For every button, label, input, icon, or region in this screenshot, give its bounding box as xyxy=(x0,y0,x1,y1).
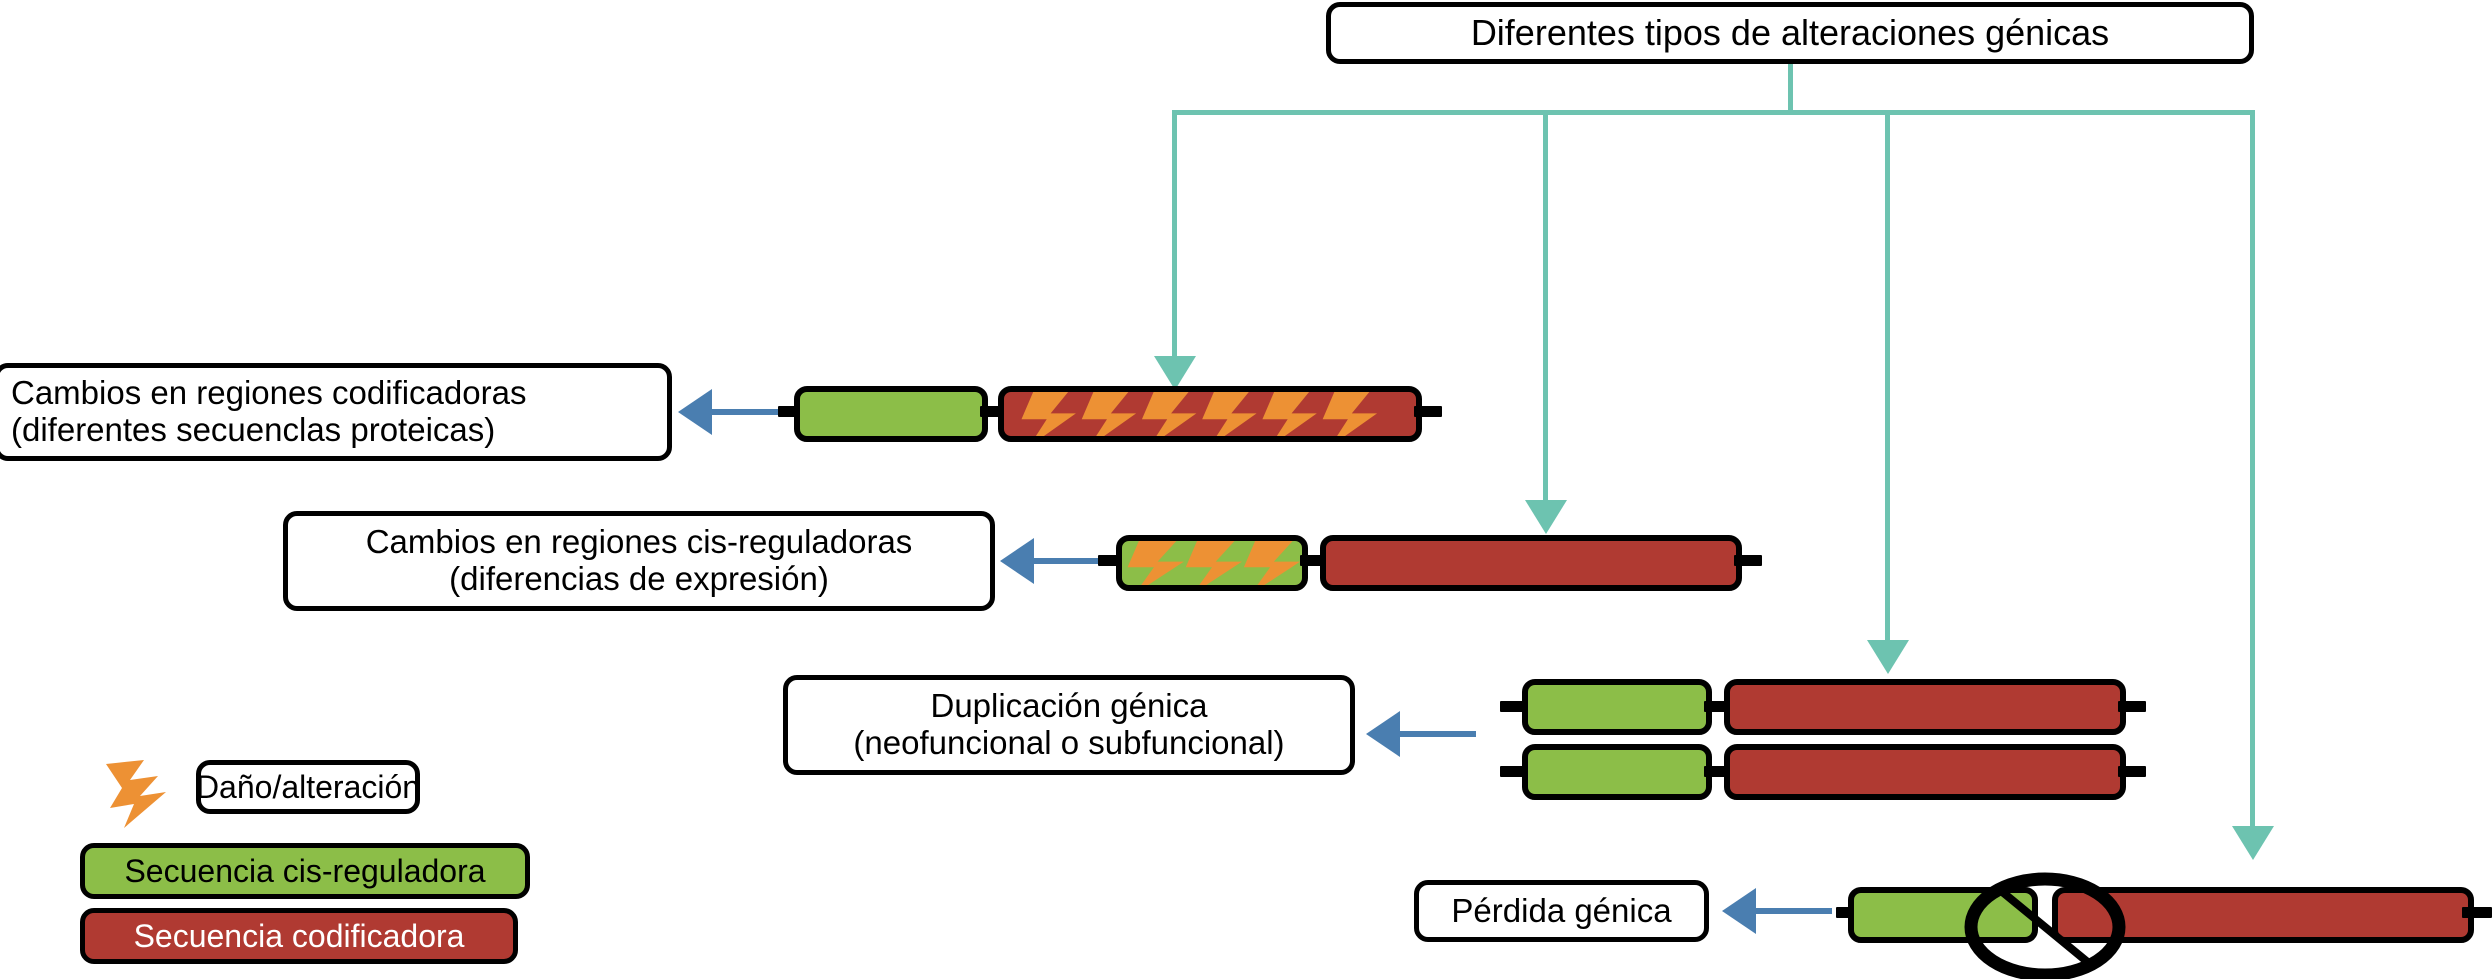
legend-label: Daño/alteración xyxy=(196,769,420,806)
gene-track-gene-loss xyxy=(0,0,2492,979)
gene-line-right xyxy=(2462,907,2492,918)
legend-item-cis-regulatory: Secuencia cis-reguladora xyxy=(80,843,530,899)
lightning-bolt-icon xyxy=(100,758,174,830)
legend-item-coding: Secuencia codificadora xyxy=(80,908,518,964)
deletion-marker-icon xyxy=(1960,872,2130,979)
legend-label: Secuencia codificadora xyxy=(134,918,465,955)
diagram-canvas: Diferentes tipos de alteraciones génicas… xyxy=(0,0,2492,979)
legend-item-damage: Daño/alteración xyxy=(196,760,420,814)
legend-label: Secuencia cis-reguladora xyxy=(124,853,485,890)
